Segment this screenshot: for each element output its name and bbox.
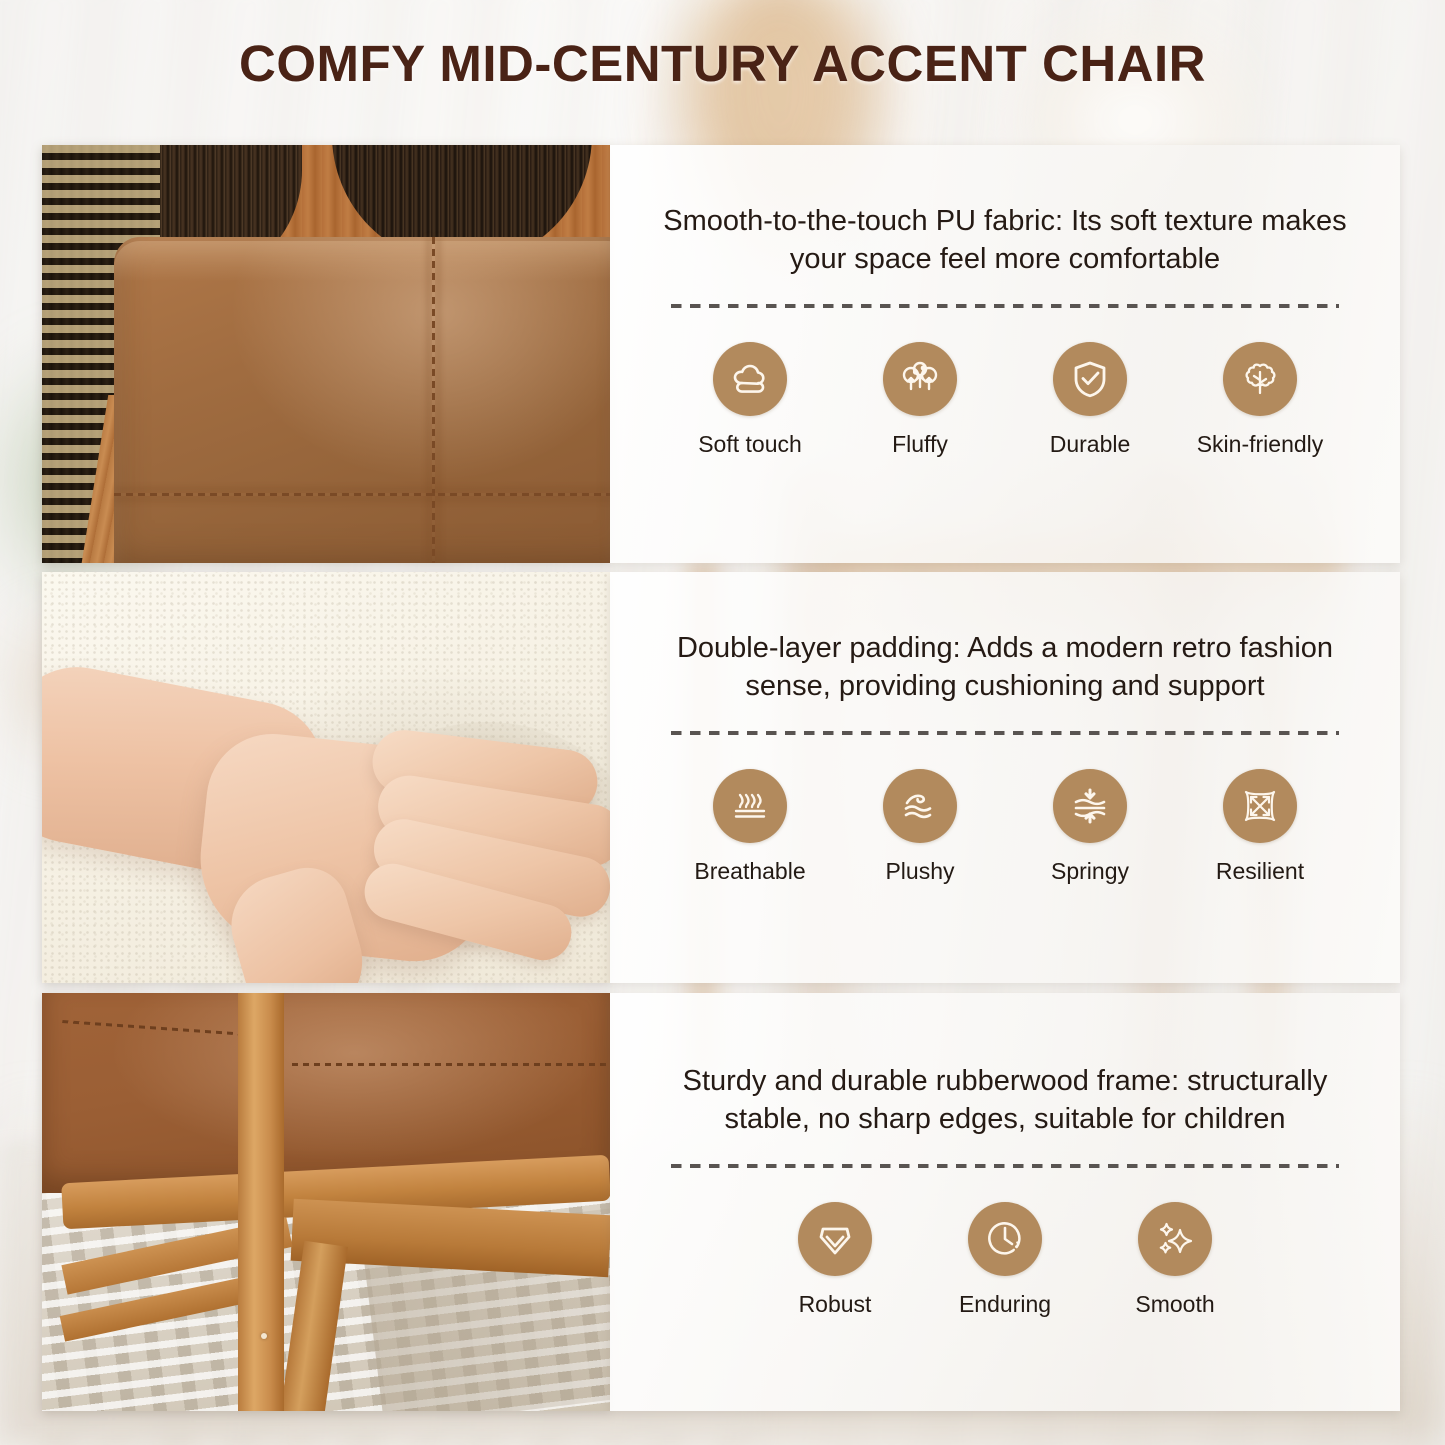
photo-stitch-vertical <box>432 237 435 563</box>
photo-screw <box>261 1333 267 1339</box>
feature-text-panel-2: Double-layer padding: Adds a modern retr… <box>610 572 1400 983</box>
photo-seat-stitch <box>292 1063 610 1066</box>
panel-headline: Smooth-to-the-touch PU fabric: Its soft … <box>655 203 1355 278</box>
breathable-steam-icon <box>713 769 787 843</box>
feature-icon-list: Breathable Plushy <box>683 769 1327 885</box>
feature-item[interactable]: Soft touch <box>683 342 817 458</box>
feature-label: Breathable <box>694 858 805 885</box>
feature-item[interactable]: Plushy <box>853 769 987 885</box>
feature-item[interactable]: Breathable <box>683 769 817 885</box>
feature-label: Enduring <box>959 1291 1051 1318</box>
feature-text-panel-1: Smooth-to-the-touch PU fabric: Its soft … <box>610 145 1400 563</box>
feature-icon-list: Robust Enduring <box>768 1202 1242 1318</box>
feature-item[interactable]: Skin-friendly <box>1193 342 1327 458</box>
cotton-cloud-icon <box>713 342 787 416</box>
hand-pressing-foam-padding-photo <box>42 572 610 983</box>
feature-text-panel-3: Sturdy and durable rubberwood frame: str… <box>610 993 1400 1411</box>
feature-item[interactable]: Enduring <box>938 1202 1072 1318</box>
feature-icon-list: Soft touch Fluffy <box>683 342 1327 458</box>
feature-panel-3: Sturdy and durable rubberwood frame: str… <box>42 993 1400 1411</box>
feature-label: Durable <box>1050 431 1131 458</box>
feature-panel-2: Double-layer padding: Adds a modern retr… <box>42 572 1400 983</box>
resilient-four-arrows-icon <box>1223 769 1297 843</box>
diamond-gem-icon <box>798 1202 872 1276</box>
feature-item[interactable]: Robust <box>768 1202 902 1318</box>
feature-label: Plushy <box>885 858 954 885</box>
leather-cushion-closeup-photo <box>42 145 610 563</box>
feature-item[interactable]: Fluffy <box>853 342 987 458</box>
plush-waves-icon <box>883 769 957 843</box>
feature-item[interactable]: Smooth <box>1108 1202 1242 1318</box>
feature-item[interactable]: Resilient <box>1193 769 1327 885</box>
feature-label: Fluffy <box>892 431 948 458</box>
photo-wood-leg-front <box>238 993 284 1411</box>
cotton-boll-fluffy-icon <box>883 342 957 416</box>
springy-compression-arrows-icon <box>1053 769 1127 843</box>
cotton-plant-icon <box>1223 342 1297 416</box>
panel-headline: Sturdy and durable rubberwood frame: str… <box>655 1063 1355 1138</box>
feature-label: Springy <box>1051 858 1129 885</box>
feature-label: Soft touch <box>698 431 802 458</box>
dashed-divider <box>671 731 1339 735</box>
clock-icon <box>968 1202 1042 1276</box>
feature-panel-1: Smooth-to-the-touch PU fabric: Its soft … <box>42 145 1400 563</box>
photo-leather-cushion <box>114 237 610 563</box>
sparkle-icon <box>1138 1202 1212 1276</box>
rubberwood-frame-leg-photo <box>42 993 610 1411</box>
dashed-divider <box>671 1164 1339 1168</box>
panel-headline: Double-layer padding: Adds a modern retr… <box>655 630 1355 705</box>
photo-cushion-highlight <box>114 241 610 281</box>
photo-stitch-horizontal <box>114 493 610 496</box>
feature-label: Resilient <box>1216 858 1304 885</box>
shield-check-icon <box>1053 342 1127 416</box>
feature-label: Smooth <box>1135 1291 1214 1318</box>
dashed-divider <box>671 304 1339 308</box>
feature-label: Skin-friendly <box>1197 431 1324 458</box>
feature-item[interactable]: Springy <box>1023 769 1157 885</box>
feature-item[interactable]: Durable <box>1023 342 1157 458</box>
page-title: COMFY MID-CENTURY ACCENT CHAIR <box>0 34 1445 93</box>
feature-label: Robust <box>799 1291 872 1318</box>
